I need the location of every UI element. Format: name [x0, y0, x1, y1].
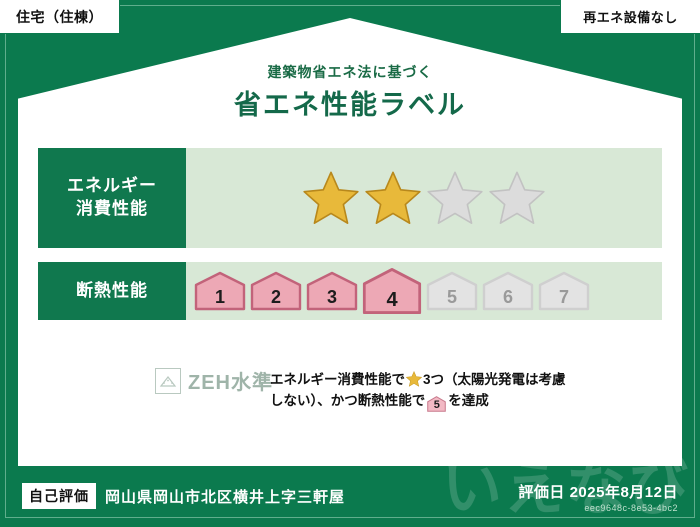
insulation-rank-7: 7 — [538, 271, 590, 311]
energy-label-line1: エネルギー — [67, 175, 157, 198]
footer-right: 評価日 2025年8月12日 eec9648c-8e53-4bc2 — [518, 481, 678, 513]
self-evaluation-badge: 自己評価 — [22, 483, 96, 509]
insulation-rank-value-1: 1 — [215, 287, 225, 308]
label-subtitle: 建築物省エネ法に基づく — [0, 62, 700, 82]
insulation-rank-6: 6 — [482, 271, 534, 311]
desc-star-count: 3つ（太陽光発電 — [423, 372, 525, 387]
property-address: 岡山県岡山市北区横井上字三軒屋 — [105, 486, 345, 507]
tab-renewable-status[interactable]: 再エネ設備なし — [560, 0, 700, 34]
insulation-rank-value-7: 7 — [559, 287, 569, 308]
insulation-rank-1: 1 — [194, 271, 246, 311]
insulation-rank-2: 2 — [250, 271, 302, 311]
footer-left: 自己評価 岡山県岡山市北区横井上字三軒屋 — [22, 483, 345, 509]
insulation-rank-4: 4 — [362, 267, 422, 315]
insulation-rank-value-4: 4 — [386, 289, 397, 312]
insulation-rank-value-5: 5 — [447, 287, 457, 308]
zeh-standard-block: ZEH水準 — [155, 366, 273, 395]
inline-rank-badge: 5 — [427, 396, 446, 412]
document-id: eec9648c-8e53-4bc2 — [518, 503, 678, 513]
insulation-rank-value-6: 6 — [503, 287, 513, 308]
desc-part1: エネルギー消費性能で — [270, 372, 405, 387]
star-icon-4 — [488, 170, 546, 226]
zeh-house-icon — [155, 368, 181, 394]
zeh-standard-label: ZEH水準 — [188, 366, 273, 395]
insulation-label-line1: 断熱性能 — [76, 280, 148, 303]
energy-label-line2: 消費性能 — [76, 198, 148, 221]
energy-performance-label: エネルギー 消費性能 — [38, 148, 186, 248]
energy-label-card: 住宅（住棟） 再エネ設備なし 建築物省エネ法に基づく 省エネ性能ラベル エネルギ… — [0, 0, 700, 523]
tab-building-type[interactable]: 住宅（住棟） — [0, 0, 120, 34]
insulation-rank-value-2: 2 — [271, 287, 281, 308]
star-icon-3 — [426, 170, 484, 226]
inline-rank-value: 5 — [434, 399, 440, 411]
insulation-rank-3: 3 — [306, 271, 358, 311]
star-icon-2 — [364, 170, 422, 226]
insulation-rank-scale: 1234567 — [186, 262, 662, 320]
star-icon-1 — [302, 170, 360, 226]
insulation-rank-5: 5 — [426, 271, 478, 311]
evaluation-date: 評価日 2025年8月12日 — [518, 481, 678, 502]
energy-star-rating — [186, 148, 662, 248]
achievement-description: エネルギー消費性能で3つ（太陽光発電は考慮しない）、かつ断熱性能で5を達成 — [270, 370, 570, 412]
inline-star-icon — [406, 371, 422, 387]
insulation-rank-value-3: 3 — [327, 287, 337, 308]
energy-performance-row: エネルギー 消費性能 — [38, 148, 662, 248]
label-title: 省エネ性能ラベル — [0, 83, 700, 122]
insulation-performance-label: 断熱性能 — [38, 262, 186, 320]
insulation-performance-row: 断熱性能 1234567 — [38, 262, 662, 320]
desc-part3: を達成 — [448, 393, 489, 408]
